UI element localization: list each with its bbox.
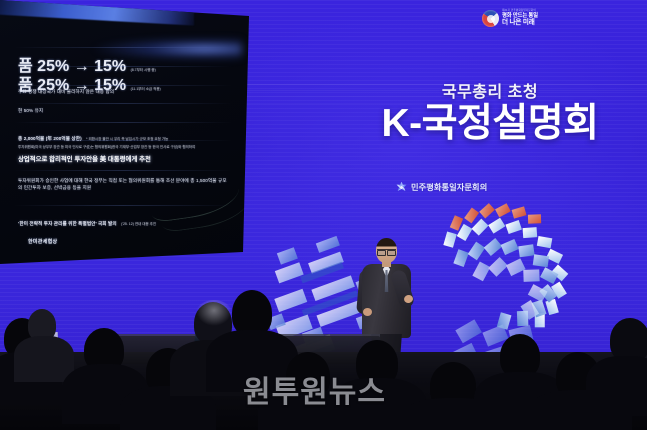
slide-line: 주요 경쟁 대상국가 대비 불리하지 않은 내용 합의 [18, 89, 114, 95]
slide-line-text: 주요 경쟁 대상국가 대비 불리하지 않은 내용 합의 [18, 89, 114, 94]
slide-line: 총 2,000억불 (年 200억불 상한) * 외환시장 불안 시 우리 측 … [18, 127, 168, 145]
slide-line: 현 50% 유지 [18, 108, 43, 114]
event-title-block: 국무총리 초청 K-국정설명회 [340, 78, 640, 145]
audience-grey-hair [196, 300, 232, 326]
slide-line-text: 현 50% 유지 [18, 108, 43, 113]
audience-shoulders [586, 356, 647, 416]
dove-emblem-icon [396, 182, 407, 193]
slide-highlight-lead: 투자위원회(미국 상무부 장관 등 미국 인사로 구성)는 협의위원회(한국 기… [18, 145, 195, 150]
slide-content: 품 25% → 15% (8.7부터 시행 중) 품 25% → 15% (11… [0, 0, 249, 264]
eyeglasses-icon [377, 249, 396, 254]
emblem-kicker: 제21기 민주평화통일자문회의 [502, 10, 538, 13]
slide-footer-line: ‘한미 전략적 투자 관리를 위한 특별법안’ 국회 발의 ('25. 12) … [18, 212, 156, 230]
speaker-left-hand [363, 308, 372, 316]
organizer-logo: 민주평화통일자문회의 [396, 181, 487, 193]
event-main-title: K-국정설명회 [340, 104, 640, 145]
presentation-slide: 품 25% → 15% (8.7부터 시행 중) 품 25% → 15% (11… [0, 0, 249, 264]
slide-footer-text: ‘한미 전략적 투자 관리를 위한 특별법안’ 국회 발의 [18, 221, 117, 226]
organizer-name: 민주평화통일자문회의 [411, 181, 487, 193]
photo-canvas: 제21기 민주평화통일자문회의 평화 만드는 통일 더 나은 미래 국무총리 초… [0, 0, 647, 430]
slide-highlight-emphasis: 상업적으로 합리적인 투자안을 美 대통령에게 추천 [18, 154, 151, 163]
audience-shoulders [14, 336, 74, 382]
taegeuk-icon [482, 10, 499, 27]
slide-line-note: (11.1부터 소급 적용) [131, 87, 161, 91]
slide-section-tag: 한미관세협상 [28, 238, 57, 245]
emblem-line-2: 더 나은 미래 [502, 20, 538, 27]
emblem-text: 제21기 민주평화통일자문회의 평화 만드는 통일 더 나은 미래 [502, 10, 538, 26]
event-subtitle: 국무총리 초청 [340, 78, 640, 102]
news-watermark: 원투원뉴스 [243, 367, 386, 411]
council-emblem: 제21기 민주평화통일자문회의 평화 만드는 통일 더 나은 미래 [482, 5, 554, 32]
slide-footer-note: ('25. 12) 연내 대응 추진 [121, 222, 156, 226]
